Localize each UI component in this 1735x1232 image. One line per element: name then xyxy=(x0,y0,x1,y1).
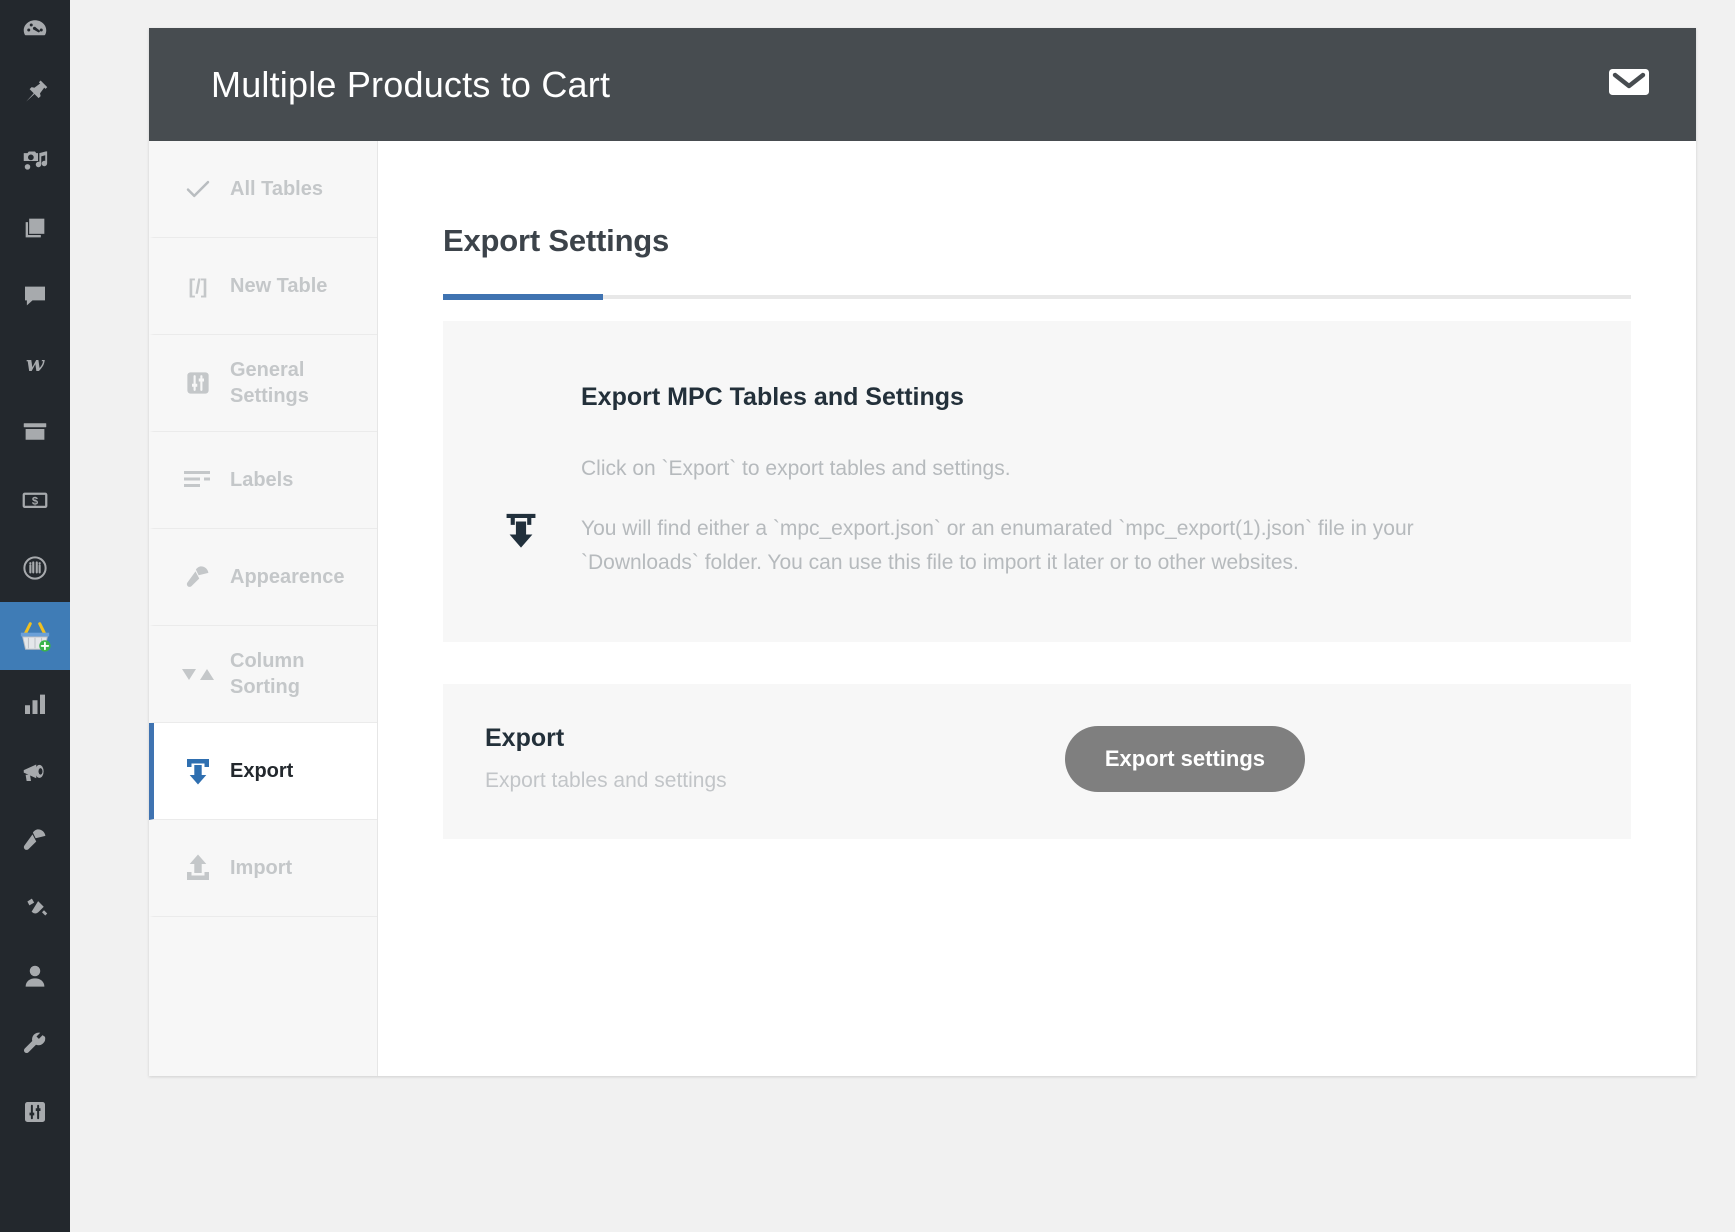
rail-item-tools[interactable] xyxy=(0,1010,70,1078)
brackets-icon: [/] xyxy=(176,271,220,301)
w-letter-icon: w xyxy=(18,349,52,379)
export-download-icon xyxy=(499,383,545,580)
bar-chart-icon xyxy=(20,689,50,719)
dashboard-icon xyxy=(20,14,50,44)
svg-text:w: w xyxy=(26,352,45,377)
active-tab-indicator xyxy=(443,294,603,300)
basket-plus-icon xyxy=(16,619,54,653)
rail-item-pages[interactable] xyxy=(0,194,70,262)
action-card-title: Export xyxy=(485,724,1065,753)
rail-item-woocommerce[interactable] xyxy=(0,602,70,670)
svg-text:$: $ xyxy=(32,496,39,508)
settings-sidebar: All Tables [/] New Table xyxy=(149,141,378,1076)
export-down-icon xyxy=(176,755,220,787)
sidebar-item-new-table[interactable]: [/] New Table xyxy=(149,238,377,335)
info-card-heading: Export MPC Tables and Settings xyxy=(581,383,1571,412)
check-icon xyxy=(176,174,220,204)
sidebar-item-label: New Table xyxy=(230,273,327,299)
sidebar-item-label: All Tables xyxy=(230,176,323,202)
rail-item-plugins[interactable] xyxy=(0,874,70,942)
export-settings-button[interactable]: Export settings xyxy=(1065,726,1305,792)
megaphone-icon xyxy=(19,757,51,787)
rail-item-appearance[interactable] xyxy=(0,806,70,874)
brush-icon xyxy=(19,825,51,855)
sliders-icon xyxy=(20,1097,50,1127)
sidebar-item-export[interactable]: Export xyxy=(149,723,377,820)
media-icon xyxy=(20,145,50,175)
rail-item-dashboard[interactable] xyxy=(0,0,70,58)
rail-item-wordfence[interactable]: w xyxy=(0,330,70,398)
archive-icon xyxy=(20,417,50,447)
export-action-card: Export Export tables and settings Export… xyxy=(443,684,1631,839)
wrench-icon xyxy=(20,1029,50,1059)
page-body: All Tables [/] New Table xyxy=(149,141,1696,1076)
pages-icon xyxy=(21,214,49,242)
rail-item-posts[interactable] xyxy=(0,58,70,126)
brush-icon xyxy=(176,562,220,592)
wp-admin-sidebar: w $ xyxy=(0,0,70,1232)
sort-arrows-icon xyxy=(176,663,220,685)
contact-mail-button[interactable] xyxy=(1606,62,1652,108)
sidebar-item-general-settings[interactable]: General Settings xyxy=(149,335,377,432)
rail-item-settings[interactable] xyxy=(0,1078,70,1146)
sidebar-item-label: Labels xyxy=(230,467,293,493)
sidebar-item-label: Column Sorting xyxy=(230,648,367,701)
panel-title: Export Settings xyxy=(443,223,1631,259)
sidebar-item-label: Export xyxy=(230,758,293,784)
export-info-card: Export MPC Tables and Settings Click on … xyxy=(443,321,1631,642)
rail-item-media[interactable] xyxy=(0,126,70,194)
pin-icon xyxy=(20,77,50,107)
money-icon: $ xyxy=(20,485,50,515)
plugin-page: Multiple Products to Cart All Tables xyxy=(149,28,1696,1076)
comment-icon xyxy=(20,281,50,311)
settings-content: Export Settings Export MPC Tables and Se… xyxy=(378,141,1696,1076)
envelope-icon xyxy=(1608,66,1650,103)
sidebar-item-label: Appearence xyxy=(230,564,345,590)
svg-text:[/]: [/] xyxy=(189,276,208,298)
lines-icon xyxy=(176,467,220,493)
page-header: Multiple Products to Cart xyxy=(149,28,1696,141)
sidebar-item-label: General Settings xyxy=(230,357,367,410)
plug-icon xyxy=(20,893,50,923)
sidebar-item-label: Import xyxy=(230,855,292,881)
rail-item-reports[interactable] xyxy=(0,670,70,738)
rail-item-users[interactable] xyxy=(0,942,70,1010)
import-up-icon xyxy=(176,852,220,884)
globe-bars-icon xyxy=(20,553,50,583)
rail-item-comments[interactable] xyxy=(0,262,70,330)
page-title: Multiple Products to Cart xyxy=(211,64,1606,106)
info-card-paragraph-1: Click on `Export` to export tables and s… xyxy=(581,452,1436,486)
info-card-paragraph-2: You will find either a `mpc_export.json`… xyxy=(581,512,1436,580)
tab-underline xyxy=(443,295,1631,299)
rail-item-archive[interactable] xyxy=(0,398,70,466)
sliders-icon xyxy=(176,368,220,398)
rail-item-payments[interactable]: $ xyxy=(0,466,70,534)
sidebar-item-all-tables[interactable]: All Tables xyxy=(149,141,377,238)
rail-item-analytics[interactable] xyxy=(0,534,70,602)
rail-item-marketing[interactable] xyxy=(0,738,70,806)
sidebar-item-column-sorting[interactable]: Column Sorting xyxy=(149,626,377,723)
action-card-subtitle: Export tables and settings xyxy=(485,769,1065,793)
user-icon xyxy=(20,961,50,991)
sidebar-item-import[interactable]: Import xyxy=(149,820,377,917)
sidebar-item-appearence[interactable]: Appearence xyxy=(149,529,377,626)
sidebar-item-labels[interactable]: Labels xyxy=(149,432,377,529)
